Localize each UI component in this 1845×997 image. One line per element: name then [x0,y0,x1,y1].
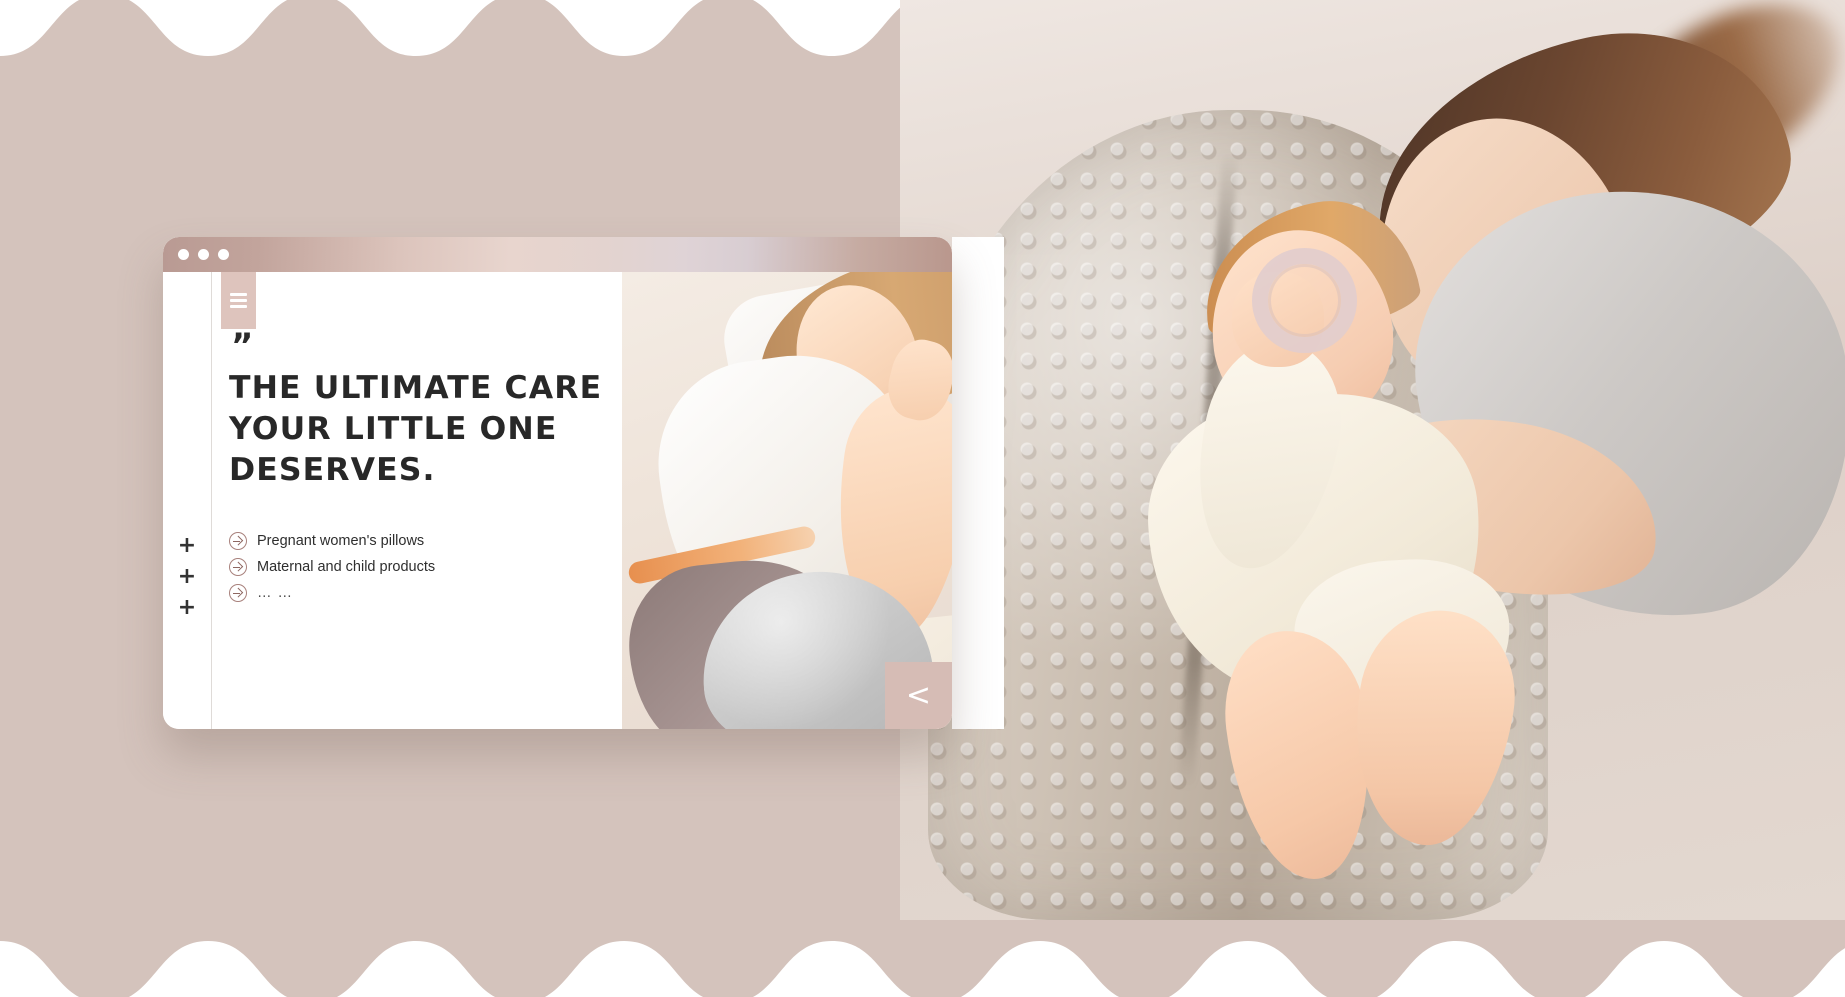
left-rail-divider [211,272,212,729]
plus-marker: + [178,534,196,557]
plus-marker: + [178,596,196,619]
circle-arrow-right-icon [229,584,247,602]
list-item-label: … … [257,585,293,601]
circle-arrow-right-icon [229,532,247,550]
slide-headline: THE ULTIMATE CARE YOUR LITTLE ONE DESERV… [229,368,607,491]
window-dot-close[interactable] [178,249,189,260]
prev-slide-button[interactable]: < [885,662,952,729]
plus-marker: + [178,565,196,588]
slide-photo [622,272,952,729]
chevron-left-icon: < [906,681,931,711]
list-item[interactable]: Maternal and child products [229,558,435,576]
list-item-label: Maternal and child products [257,559,435,575]
browser-viewport: ” THE ULTIMATE CARE YOUR LITTLE ONE DESE… [163,272,952,729]
circle-arrow-right-icon [229,558,247,576]
window-dot-maximize[interactable] [218,249,229,260]
hamburger-icon [230,290,247,311]
window-traffic-lights[interactable] [178,249,229,260]
list-item[interactable]: … … [229,584,435,602]
page-root: ” THE ULTIMATE CARE YOUR LITTLE ONE DESE… [0,0,1845,997]
quote-mark-icon: ” [231,329,251,363]
browser-window: ” THE ULTIMATE CARE YOUR LITTLE ONE DESE… [163,237,952,729]
plus-marker-column: + + + [163,534,211,619]
browser-titlebar [163,237,952,272]
feature-list: Pregnant women's pillows Maternal and ch… [229,532,435,602]
list-item-label: Pregnant women's pillows [257,533,424,549]
hero-photo [900,0,1845,920]
list-item[interactable]: Pregnant women's pillows [229,532,435,550]
photo-notch [952,237,1004,729]
hamburger-menu-button[interactable] [221,272,256,329]
window-dot-minimize[interactable] [198,249,209,260]
